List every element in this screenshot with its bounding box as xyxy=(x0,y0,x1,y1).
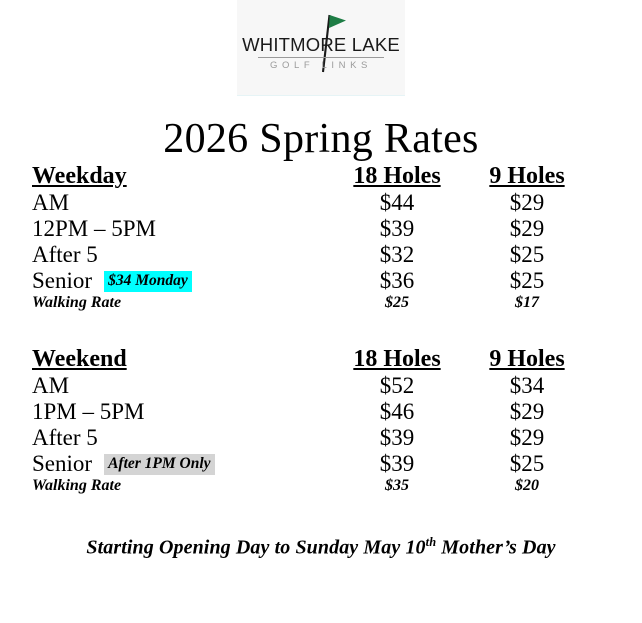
rate-9-holes: $25 xyxy=(462,451,592,477)
weekend-walking-rate-row: Walking Rate $35 $20 xyxy=(32,477,592,495)
table-row: AM $52 $34 xyxy=(32,373,592,399)
rate-label-senior: Senior$34 Monday xyxy=(32,268,332,294)
rate-18-holes: $46 xyxy=(332,399,462,425)
logo-box: WHITMORE LAKE GOLF LINKS xyxy=(237,0,405,96)
rate-label: Senior xyxy=(32,268,92,293)
season-note: Starting Opening Day to Sunday May 10th … xyxy=(0,535,642,560)
rate-label: Senior xyxy=(32,451,92,476)
walking-rate-9-holes: $20 xyxy=(462,477,592,495)
season-note-text: Starting Opening Day to Sunday May 10 xyxy=(86,537,425,559)
rate-18-holes: $39 xyxy=(332,451,462,477)
table-row: AM $44 $29 xyxy=(32,190,592,216)
table-row: Senior$34 Monday $36 $25 xyxy=(32,268,592,294)
table-row: SeniorAfter 1PM Only $39 $25 xyxy=(32,451,592,477)
section-spacer xyxy=(0,312,642,346)
walking-rate-9-holes: $17 xyxy=(462,294,592,312)
weekend-header-row: Weekend 18 Holes 9 Holes xyxy=(32,346,592,373)
rate-label-senior: SeniorAfter 1PM Only xyxy=(32,451,332,477)
table-row: After 5 $32 $25 xyxy=(32,242,592,268)
walking-rate-label: Walking Rate xyxy=(32,294,332,312)
table-row: After 5 $39 $29 xyxy=(32,425,592,451)
rate-label: 1PM – 5PM xyxy=(32,399,332,425)
rate-9-holes: $25 xyxy=(462,268,592,294)
rate-18-holes: $32 xyxy=(332,242,462,268)
course-logo: WHITMORE LAKE GOLF LINKS xyxy=(237,0,405,95)
rate-18-holes: $44 xyxy=(332,190,462,216)
ordinal-suffix: th xyxy=(426,535,437,549)
page-title: 2026 Spring Rates xyxy=(0,115,642,163)
weekday-header-row: Weekday 18 Holes 9 Holes xyxy=(32,163,592,190)
logo-wordmark: WHITMORE LAKE xyxy=(237,34,405,56)
rate-9-holes: $29 xyxy=(462,190,592,216)
rate-9-holes: $29 xyxy=(462,216,592,242)
logo-band: WHITMORE LAKE GOLF LINKS xyxy=(0,0,642,97)
logo-subtitle: GOLF LINKS xyxy=(237,60,405,71)
rate-label: AM xyxy=(32,373,332,399)
rate-label: AM xyxy=(32,190,332,216)
rate-9-holes: $25 xyxy=(462,242,592,268)
senior-after-1pm-badge: After 1PM Only xyxy=(104,454,214,475)
weekend-rates-table: Weekend 18 Holes 9 Holes AM $52 $34 1PM … xyxy=(32,346,592,495)
rate-label: After 5 xyxy=(32,425,332,451)
column-header-9-holes: 9 Holes xyxy=(462,346,592,373)
table-row: 1PM – 5PM $46 $29 xyxy=(32,399,592,425)
logo-divider xyxy=(258,57,384,58)
rate-18-holes: $39 xyxy=(332,216,462,242)
rates-sheet: Weekday 18 Holes 9 Holes AM $44 $29 12PM… xyxy=(0,163,642,560)
rate-9-holes: $29 xyxy=(462,425,592,451)
season-note-suffix: Mother’s Day xyxy=(436,537,555,559)
rate-label: After 5 xyxy=(32,242,332,268)
column-header-9-holes: 9 Holes xyxy=(462,163,592,190)
rate-9-holes: $34 xyxy=(462,373,592,399)
rate-18-holes: $39 xyxy=(332,425,462,451)
walking-rate-18-holes: $25 xyxy=(332,294,462,312)
column-header-18-holes: 18 Holes xyxy=(332,163,462,190)
rate-18-holes: $36 xyxy=(332,268,462,294)
column-header-18-holes: 18 Holes xyxy=(332,346,462,373)
rate-label: 12PM – 5PM xyxy=(32,216,332,242)
senior-monday-badge: $34 Monday xyxy=(104,271,192,292)
weekday-walking-rate-row: Walking Rate $25 $17 xyxy=(32,294,592,312)
rate-18-holes: $52 xyxy=(332,373,462,399)
table-row: 12PM – 5PM $39 $29 xyxy=(32,216,592,242)
walking-rate-label: Walking Rate xyxy=(32,477,332,495)
weekday-rates-table: Weekday 18 Holes 9 Holes AM $44 $29 12PM… xyxy=(32,163,592,312)
rate-9-holes: $29 xyxy=(462,399,592,425)
weekend-heading: Weekend xyxy=(32,346,332,373)
weekday-heading: Weekday xyxy=(32,163,332,190)
walking-rate-18-holes: $35 xyxy=(332,477,462,495)
